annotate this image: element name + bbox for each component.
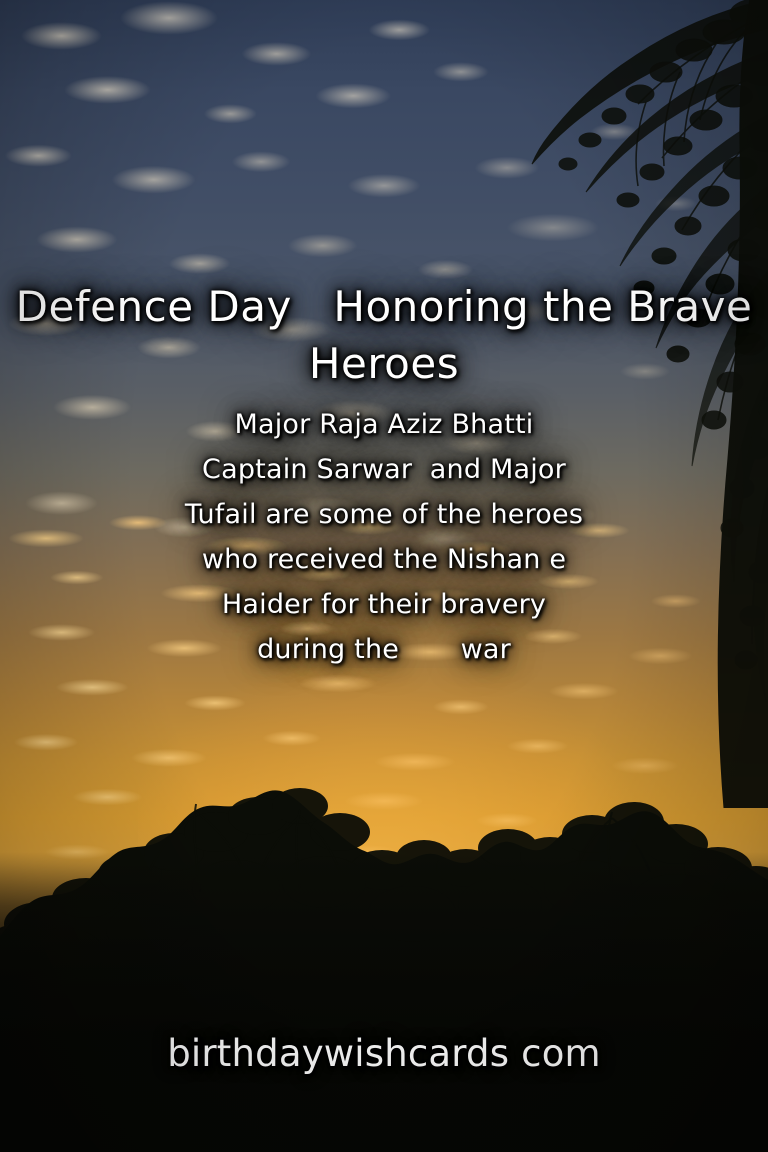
text-overlay: Defence Day Honoring the Brave Heroes Ma…	[0, 0, 768, 1152]
message-line: Haider for their bravery	[0, 582, 768, 627]
message-line: who received the Nishan e	[0, 537, 768, 582]
greeting-card: Defence Day Honoring the Brave Heroes Ma…	[0, 0, 768, 1152]
message-line: Captain Sarwar and Major	[0, 447, 768, 492]
watermark-site-name: birthdaywishcards com	[0, 1032, 768, 1075]
page-title: Defence Day Honoring the Brave Heroes	[0, 278, 768, 392]
message-line: Major Raja Aziz Bhatti	[0, 402, 768, 447]
message-line: during the war	[0, 627, 768, 672]
message-line: Tufail are some of the heroes	[0, 492, 768, 537]
message-body: Major Raja Aziz Bhatti Captain Sarwar an…	[0, 402, 768, 672]
